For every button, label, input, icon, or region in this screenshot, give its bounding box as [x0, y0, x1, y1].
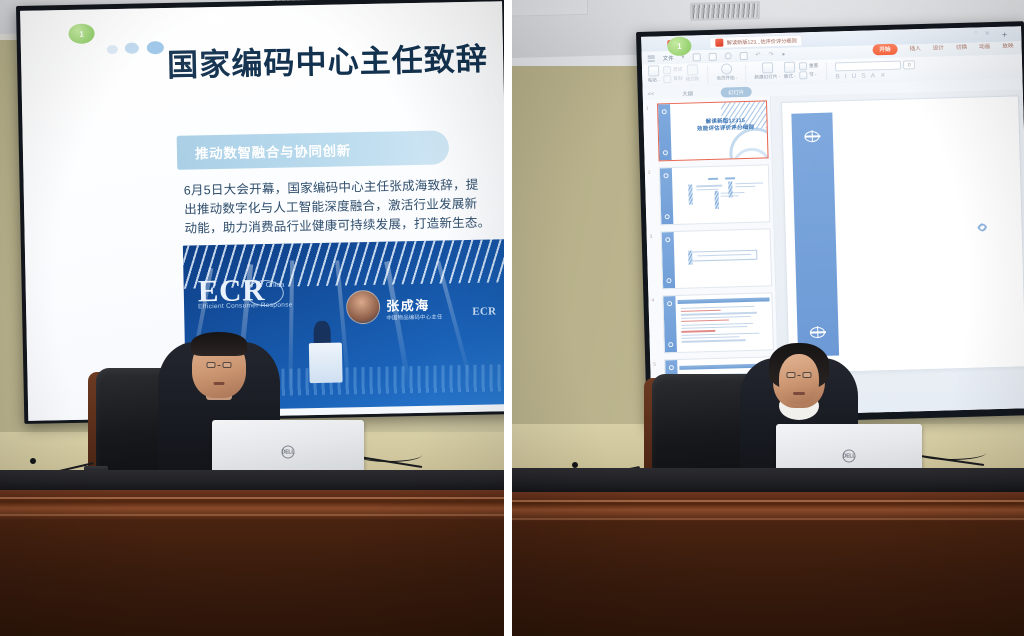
presenter-mouth — [793, 392, 805, 395]
podium-edge-highlight — [512, 500, 1024, 502]
stage-podium — [309, 343, 343, 384]
clear-format-button[interactable]: ✕ — [880, 71, 886, 79]
left-photo-panel: 1 国家编码中心主任致辞 推动数智融合与协同创新 6月5日大会开幕，国家编码中心… — [0, 0, 504, 636]
decorative-dot-small — [107, 45, 118, 54]
reset-icon[interactable] — [799, 62, 807, 70]
slideshow-group: 当页开始 - — [716, 63, 738, 82]
right-podium — [512, 492, 1024, 636]
underline-button[interactable]: U — [852, 72, 857, 79]
ecr-corner-mark: ECR — [472, 305, 496, 317]
paste-button[interactable]: 粘贴 - — [647, 65, 660, 83]
slide-thumb-frame — [662, 292, 774, 353]
slide-body-text: 6月5日大会开幕，国家编码中心主任张成海致辞，提 出推动数字化与人工智能深度融合… — [184, 175, 504, 238]
thumb-node-icon — [662, 109, 667, 114]
ribbon-divider — [707, 66, 709, 84]
slide-title: 国家编码中心主任致辞 — [167, 34, 489, 85]
slides-group: 新建幻灯片 - 版式 - 重置 — [754, 61, 818, 81]
clipboard-group: 粘贴 - 剪切 复制 — [647, 64, 699, 83]
dell-logo: DELL — [843, 450, 856, 463]
layout-label: 版式 - — [784, 74, 796, 80]
tab-bar-icons: ○ ✕ + — [974, 29, 1021, 40]
new-slide-icon — [761, 62, 772, 73]
slide-thumb-frame: 解读新版12315效能评估评价评分细则 — [657, 100, 769, 161]
slides-tab[interactable]: 幻灯片 — [721, 86, 751, 97]
mic-head — [30, 458, 36, 464]
print-icon[interactable] — [724, 52, 731, 59]
format-painter-label: 格式刷 — [685, 76, 699, 82]
thumb-highlight-line — [681, 320, 729, 323]
slide-thumb-1[interactable]: 1 解读新版12315效能评估评价评分细则 — [657, 100, 769, 161]
slide-number: 2 — [648, 170, 651, 175]
thumb-block — [714, 190, 719, 208]
ribbon-tab-animation[interactable]: 动画 — [979, 42, 990, 50]
ceiling-vent-icon — [690, 1, 760, 21]
layout-button[interactable]: 版式 - — [783, 62, 796, 80]
cloud-sync-icon[interactable] — [708, 52, 716, 60]
globe-icon — [805, 131, 820, 142]
ribbon-tab-home[interactable]: 开始 — [872, 44, 897, 55]
presenter-hair — [191, 332, 247, 356]
thumb-node-icon — [669, 365, 674, 370]
document-tab-title: 解读新版123...估评价评分细则 — [727, 37, 797, 46]
paste-label: 粘贴 - — [648, 77, 660, 83]
thumb-text-line — [682, 326, 748, 329]
font-format-group: B I U S A ✕ — [835, 70, 915, 80]
bold-button[interactable]: B — [835, 73, 840, 80]
presenter-mouth — [214, 382, 225, 385]
thumb-node-icon — [665, 214, 670, 219]
paste-icon — [648, 65, 659, 76]
panel-gutter — [504, 0, 512, 636]
cut-label: 剪切 — [673, 67, 682, 73]
thumb-block — [688, 184, 693, 204]
layout-icon — [784, 62, 795, 73]
presentation-file-icon — [716, 39, 724, 47]
menu-icon[interactable] — [648, 55, 655, 61]
slide-thumb-title: 解读新版12315效能评估评价评分细则 — [691, 118, 761, 135]
thumb-text-line — [735, 186, 755, 188]
thumb-side-bar — [662, 232, 675, 288]
ribbon-tab-design[interactable]: 设计 — [933, 44, 944, 52]
right-desk-surface — [512, 468, 1024, 494]
thumb-text-line — [682, 336, 740, 339]
thumb-highlight-line — [682, 330, 716, 332]
slide-thumb-3[interactable]: 3 — [661, 228, 773, 289]
slide-watermark: ᨔ — [976, 216, 989, 236]
format-painter-button[interactable]: 格式刷 — [685, 64, 699, 82]
file-menu[interactable]: 文件 — [663, 53, 674, 61]
italic-button[interactable]: I — [845, 73, 847, 80]
thumb-node-icon — [667, 301, 672, 306]
redo-icon[interactable]: ↷ — [768, 51, 773, 58]
new-tab-button[interactable]: + — [997, 29, 1013, 39]
thumb-text-line — [721, 192, 745, 194]
ribbon-divider — [745, 65, 747, 83]
thumb-side-bar — [660, 168, 673, 224]
slide-thumb-2[interactable]: 2 — [659, 164, 771, 225]
start-from-current-button[interactable]: 当页开始 - — [716, 63, 738, 82]
slide-badge: 1 — [68, 23, 94, 44]
glasses-lens — [207, 362, 216, 368]
thumb-node-icon — [663, 173, 668, 178]
ecr-tagline: Efficient Consumer Response — [198, 302, 293, 311]
section-icon[interactable] — [799, 71, 807, 79]
thumb-label — [725, 177, 735, 179]
decorative-dot-medium — [125, 43, 139, 54]
decorative-dot-large — [147, 41, 164, 54]
slide-number: 4 — [651, 298, 654, 303]
print-preview-icon[interactable] — [739, 51, 747, 59]
podium-edge-highlight — [0, 514, 504, 516]
thumb-label — [708, 178, 718, 180]
glasses-lens — [803, 372, 812, 378]
thumb-text-line — [681, 316, 751, 319]
ecr-logo-superscript: China — [266, 282, 285, 289]
thumb-text-line — [735, 182, 763, 184]
speaker-portrait — [346, 290, 381, 325]
thumb-highlight-line — [681, 310, 721, 312]
new-slide-button[interactable]: 新建幻灯片 - — [754, 62, 780, 81]
thumb-node-icon — [666, 278, 671, 283]
thumb-text-line — [681, 312, 757, 315]
thumb-block — [728, 181, 732, 197]
ceiling-panel — [512, 0, 588, 17]
photo-composite: 1 国家编码中心主任致辞 推动数智融合与协同创新 6月5日大会开幕，国家编码中心… — [0, 0, 1024, 636]
thumb-side-bar — [663, 296, 676, 352]
slide-thumb-frame — [659, 164, 771, 225]
document-tab[interactable]: 解读新版123...估评价评分细则 — [710, 34, 803, 48]
glasses-bridge — [798, 375, 801, 376]
copy-icon[interactable] — [663, 75, 671, 83]
thumb-text-line — [682, 339, 746, 342]
slide-accent-bar — [792, 112, 839, 356]
thumb-node-icon — [665, 237, 670, 242]
reset-label: 重置 — [809, 63, 818, 69]
slide-thumb-4[interactable]: 4 — [662, 292, 774, 353]
comment-icon[interactable]: ○ — [974, 30, 978, 40]
save-icon[interactable] — [692, 53, 700, 61]
thumb-node-icon — [668, 342, 673, 347]
presenter-glasses-icon — [787, 372, 812, 378]
right-cable — [916, 446, 986, 460]
strikethrough-button[interactable]: S — [861, 72, 866, 79]
collapse-pane-button[interactable]: << — [643, 91, 655, 97]
presenter-face — [779, 354, 819, 404]
thumb-text-line — [682, 332, 760, 335]
thumb-node-icon — [663, 150, 668, 155]
font-size-input[interactable]: 0 — [903, 60, 915, 69]
left-cable — [356, 448, 422, 462]
slide-thumb-frame — [661, 228, 773, 289]
slide-number: 5 — [653, 362, 656, 367]
ribbon-divider — [826, 63, 828, 81]
left-podium — [0, 490, 504, 636]
undo-icon[interactable]: ↶ — [755, 52, 760, 59]
thumb-text-line — [696, 185, 722, 187]
globe-icon — [810, 327, 825, 338]
presenter-glasses-icon — [207, 362, 232, 368]
close-tab-icon[interactable]: ✕ — [985, 30, 990, 40]
ribbon-tab-transition[interactable]: 切换 — [956, 43, 967, 51]
ribbon-tab-insert[interactable]: 插入 — [909, 44, 920, 52]
glasses-bridge — [218, 365, 221, 366]
new-slide-label: 新建幻灯片 - — [754, 74, 780, 81]
glasses-lens — [787, 372, 796, 378]
right-photo-panel: 稻壳 解读新版123...估评价评分细则 ○ ✕ + — [512, 0, 1024, 636]
play-icon — [721, 63, 732, 74]
format-painter-icon — [687, 64, 698, 75]
thumb-block — [688, 251, 692, 265]
slide-number: 3 — [650, 234, 653, 239]
ribbon-tab-slideshow[interactable]: 放映 — [1002, 42, 1013, 50]
speaker-name: 张成海 — [386, 295, 430, 315]
current-slide[interactable]: ᨔ — [781, 95, 1024, 374]
speaker-role: 中国物品编码中心主任 — [386, 313, 442, 322]
text-effects-button[interactable]: A — [871, 72, 876, 79]
podium-edge-highlight — [0, 497, 504, 499]
thumb-side-bar — [658, 104, 671, 160]
cut-icon[interactable] — [663, 66, 671, 74]
more-commands-icon[interactable]: ● — [781, 51, 785, 57]
section-label: 节 - — [809, 72, 817, 78]
outline-tab[interactable]: 大纲 — [682, 89, 693, 97]
dell-logo: DELL — [282, 446, 295, 459]
copy-label: 复制 — [673, 76, 682, 82]
font-family-select[interactable] — [835, 61, 901, 72]
thumb-text-line — [681, 306, 755, 309]
slide-number: 1 — [646, 106, 649, 111]
podium-edge-highlight — [512, 518, 1024, 520]
thumb-header-band — [678, 298, 770, 304]
glasses-lens — [223, 362, 232, 368]
start-from-current-label: 当页开始 - — [716, 75, 737, 82]
slide-section-heading: 推动数智融合与协同创新 — [177, 130, 450, 169]
